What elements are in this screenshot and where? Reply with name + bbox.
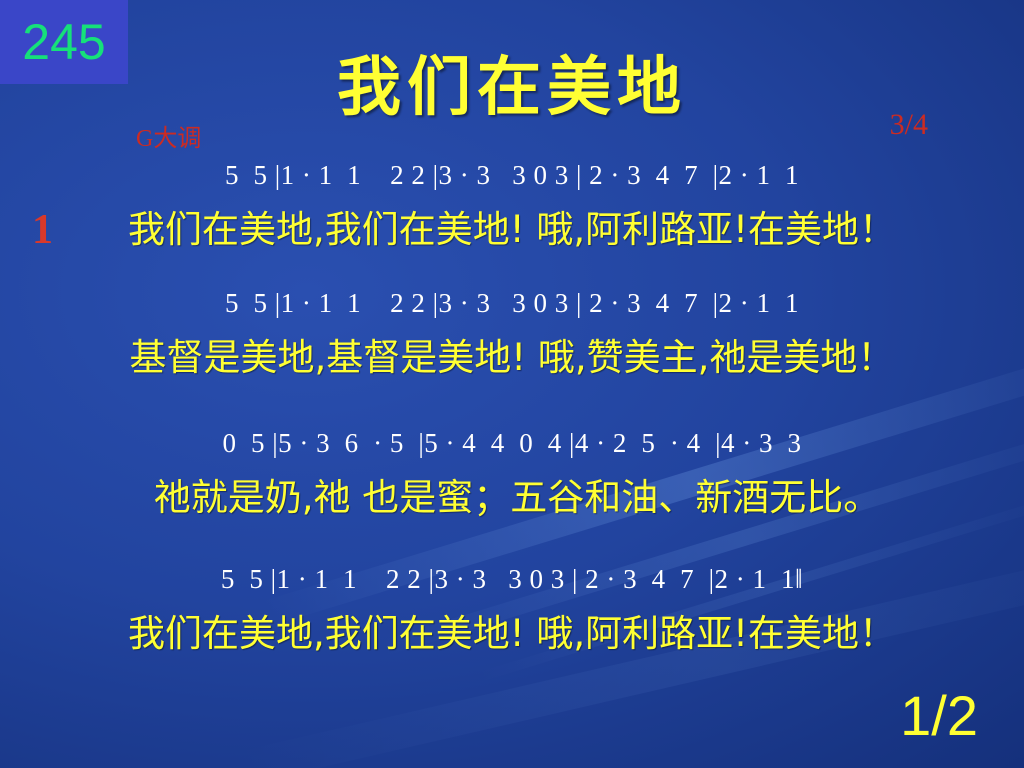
lyrics-line: 我们在美地,我们在美地! 哦,阿利路亚!在美地！ — [0, 603, 1024, 657]
stanza-1: 1 5 5 |1 · 1 1 2 2 |3 · 3 3 0 3 | 2 · 3 … — [0, 160, 1024, 253]
notation-line: 5 5 |1 · 1 1 2 2 |3 · 3 3 0 3 | 2 · 3 4 … — [0, 288, 1024, 319]
key-signature: G大调 — [136, 118, 201, 153]
notation-line: 5 5 |1 · 1 1 2 2 |3 · 3 3 0 3 | 2 · 3 4 … — [0, 564, 1024, 595]
lyrics-line: 基督是美地,基督是美地! 哦,赞美主,祂是美地！ — [0, 327, 1024, 381]
page-title: 我们在美地 — [0, 36, 1024, 128]
stanza-3: 0 5 |5 · 3 6 · 5 |5 · 4 4 0 4 |4 · 2 5 ·… — [0, 428, 1024, 521]
stanza-4: 5 5 |1 · 1 1 2 2 |3 · 3 3 0 3 | 2 · 3 4 … — [0, 564, 1024, 657]
verse-number: 1 — [32, 206, 53, 254]
page-indicator: 1/2 — [900, 683, 978, 748]
lyrics-line: 我们在美地,我们在美地! 哦,阿利路亚!在美地！ — [0, 199, 1024, 253]
time-signature: 3/4 — [890, 108, 928, 142]
notation-line: 0 5 |5 · 3 6 · 5 |5 · 4 4 0 4 |4 · 2 5 ·… — [0, 428, 1024, 459]
stanza-2: 5 5 |1 · 1 1 2 2 |3 · 3 3 0 3 | 2 · 3 4 … — [0, 288, 1024, 381]
slide-canvas: 245 我们在美地 G大调 3/4 1 5 5 |1 · 1 1 2 2 |3 … — [0, 0, 1024, 768]
lyrics-line: 祂就是奶,祂 也是蜜；五谷和油、新酒无比。 — [0, 467, 1024, 521]
notation-line: 5 5 |1 · 1 1 2 2 |3 · 3 3 0 3 | 2 · 3 4 … — [0, 160, 1024, 191]
